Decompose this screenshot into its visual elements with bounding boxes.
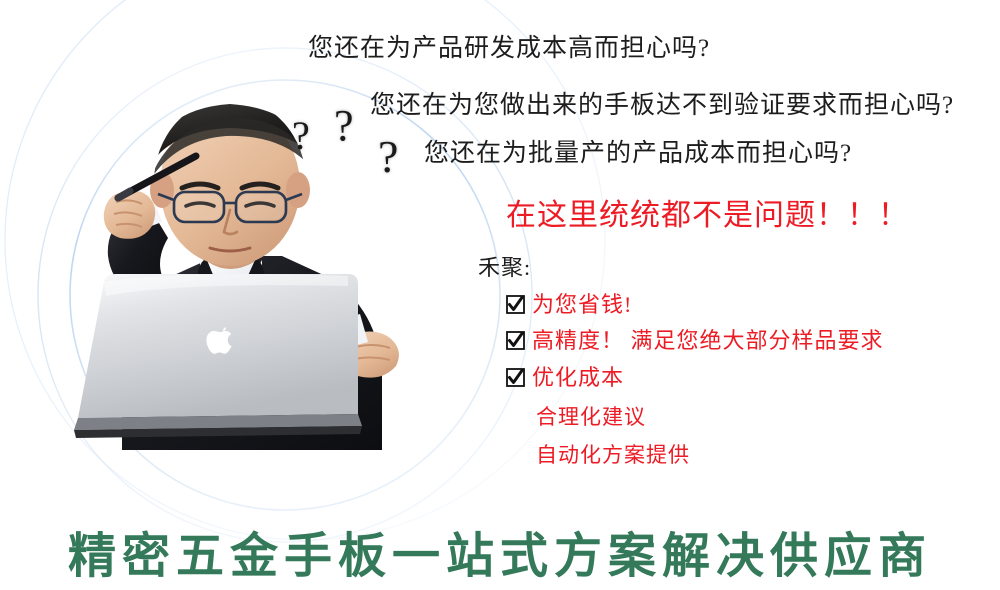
benefit-item-2: 高精度！ 满足您绝大部分样品要求 — [506, 328, 978, 353]
checked-checkbox-icon — [506, 331, 525, 350]
promo-banner: ? ? ? 您还在为产品研发成本高而担心吗? 您还在为您做出来的手板达不到验证要… — [0, 0, 1000, 590]
benefit-text-2: 高精度！ 满足您绝大部分样品要求 — [532, 328, 884, 353]
checked-checkbox-icon — [506, 368, 525, 387]
checked-checkbox-icon — [506, 295, 525, 314]
question-line-3: 您还在为批量产的产品成本而担心吗? — [424, 133, 852, 169]
benefits-block: 禾聚: 为您省钱! 高精度！ 满足您绝大部分样品要求 — [478, 250, 978, 477]
question-line-2: 您还在为您做出来的手板达不到验证要求而担心吗? — [370, 85, 954, 121]
brand-label: 禾聚: — [478, 250, 978, 282]
benefit-text-1: 为您省钱! — [532, 292, 632, 317]
benefit-item-3: 优化成本 — [506, 365, 978, 390]
benefit-item-1: 为您省钱! — [506, 292, 978, 317]
laptop — [74, 274, 362, 438]
question-line-1: 您还在为产品研发成本高而担心吗? — [308, 28, 710, 64]
benefit-subpoint-1: 合理化建议 — [536, 401, 978, 431]
businessman-photo — [30, 70, 450, 450]
benefit-subpoint-2: 自动化方案提供 — [536, 439, 978, 469]
red-slogan: 在这里统统都不是问题！！！ — [506, 190, 909, 234]
benefit-text-3: 优化成本 — [532, 365, 624, 390]
footer-headline: 精密五金手板一站式方案解决供应商 — [0, 516, 1000, 586]
